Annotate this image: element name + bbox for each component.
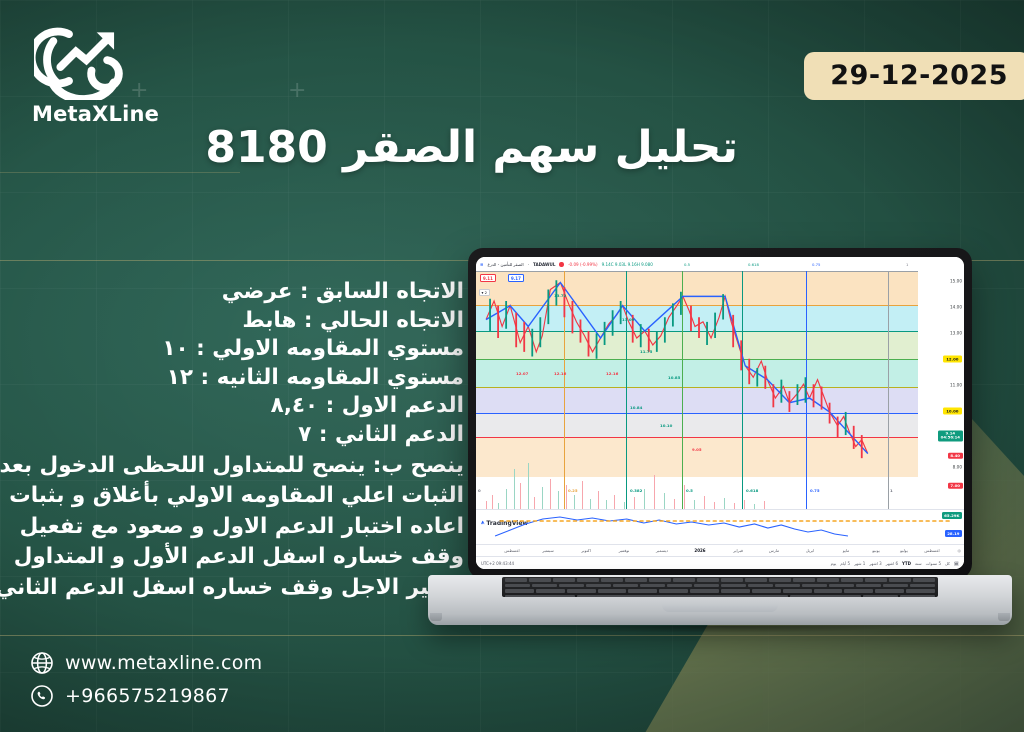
price-tick: 13.00 [950, 331, 962, 336]
plus-decor-icon: + [288, 80, 306, 102]
fib-top-label-075: 0.75 [812, 262, 820, 267]
fib-top-label-0618: 0.618 [748, 262, 759, 267]
phone-text: +966575219867 [65, 685, 230, 707]
oscillator-lower-badge: 28.19 [945, 530, 962, 537]
website-text: www.metaxline.com [65, 652, 262, 674]
poster-canvas: + + MetaXLine 29-12-2025 تحليل سهم الصقر… [0, 0, 1024, 732]
order-tag-sell[interactable]: 9.11 [480, 274, 496, 282]
analysis-line: الدعم الثاني : ٧ [44, 421, 464, 450]
zigzag-label: 12.16 [606, 371, 618, 376]
zigzag-label: 13.09 [622, 317, 634, 322]
zigzag-label: 13.72 [554, 293, 566, 298]
time-tick: مايو [843, 548, 850, 553]
zigzag-label: 10.85 [668, 375, 680, 380]
symbol-arabic-name: الصقر للتأمين - الدرع [487, 262, 523, 267]
analysis-text-block: الاتجاه السابق : عرضي الاتجاه الحالي : ه… [44, 278, 464, 603]
timezone-clock[interactable]: UTC+2 09:43:44 [481, 561, 514, 566]
time-tick: فبراير [733, 548, 743, 553]
laptop-screen: ≡ الصقر للتأمين - الدرع · TADAWUL -0.09 … [476, 257, 964, 569]
last-price-badge: 9.14 04:56:14 [938, 431, 962, 442]
zigzag-indicator [486, 283, 868, 454]
volume-histogram [476, 457, 918, 509]
oscillator-dotted-level [476, 510, 964, 544]
resistance-level-2-badge: 12.00 [943, 356, 961, 363]
chart-main-area: 13.72 13.09 11.75 12.16 10.85 10.84 10.1… [476, 271, 964, 509]
timeframe-5d[interactable]: 5 أيام [840, 561, 850, 566]
price-change: -0.09 (-0.99%) [568, 262, 598, 267]
resistance-level-1-badge: 10.00 [943, 408, 961, 415]
price-tick: 15.00 [950, 279, 962, 284]
time-tick: اكتوبر [581, 548, 591, 553]
zigzag-label: 11.75 [640, 349, 652, 354]
price-tick: 11.00 [950, 383, 962, 388]
price-axis[interactable]: 15.00 14.00 13.00 12.00 11.00 10.00 9.14… [918, 271, 964, 509]
price-tick: 14.00 [950, 305, 962, 310]
timeframe-ytd[interactable]: YTD [902, 561, 911, 566]
recommendation-line: الثبات اعلي المقاومه الاولي بأغلاق و بثب… [44, 482, 464, 511]
ohlc-values: 9.14C 9.03L 9.16H 9.080 [602, 262, 653, 267]
time-tick: ديسمبر [656, 548, 668, 553]
laptop-mockup: ≡ الصقر للتأمين - الدرع · TADAWUL -0.09 … [428, 248, 1012, 648]
time-tick: سبتمبر [542, 548, 554, 553]
chart-status-bar: UTC+2 09:43:44 🗓 كل 5 سنوات سنة YTD 6 اش… [476, 556, 964, 569]
time-tick: اغسطس [924, 548, 939, 553]
timeframe-1y[interactable]: سنة [915, 561, 922, 566]
chart-plot-area[interactable]: 13.72 13.09 11.75 12.16 10.85 10.84 10.1… [476, 271, 918, 509]
time-tick-current-year: 2026 [694, 548, 705, 553]
laptop-keyboard [502, 577, 938, 597]
footer-contact: www.metaxline.com +966575219867 [30, 642, 262, 708]
date-badge: 29-12-2025 [804, 52, 1024, 100]
timeframe-selector[interactable]: 🗓 كل 5 سنوات سنة YTD 6 اشهر 3 اشهر 1 شهر… [831, 561, 959, 566]
chart-header: ≡ الصقر للتأمين - الدرع · TADAWUL -0.09 … [476, 257, 964, 271]
candle-trace [486, 283, 868, 454]
tradingview-chart-app[interactable]: ≡ الصقر للتأمين - الدرع · TADAWUL -0.09 … [476, 257, 964, 569]
recommendation-line: وقف خساره اسفل الدعم الأول و المتداول [44, 543, 464, 572]
time-tick: ابريل [806, 548, 815, 553]
page-title: تحليل سهم الصقر 8180 [98, 122, 738, 173]
zigzag-label: 12.16 [554, 371, 566, 376]
support-2-badge: 7.00 [948, 483, 963, 489]
fib-top-label-1: 1 [906, 262, 908, 267]
analysis-line: مستوي المقاومه الاولي : ١٠ [44, 335, 464, 364]
laptop-foot-left [430, 613, 442, 621]
zigzag-label: 10.84 [630, 405, 642, 410]
timeframe-1m[interactable]: 1 شهر [854, 561, 865, 566]
time-tick: اغسطس [504, 548, 519, 553]
recommendation-line: قصير الاجل وقف خساره اسفل الدعم الثاني [44, 574, 464, 603]
separator: · [528, 262, 529, 267]
timeframe-3m[interactable]: 3 اشهر [869, 561, 881, 566]
metaxline-arrow-logo-icon [34, 22, 130, 100]
order-tag-buy[interactable]: 9.17 [508, 274, 524, 282]
recommendation-line: ينصح ب: ينصح للمتداول اللحظى الدخول بعد [44, 452, 464, 481]
chart-menu-icon[interactable]: ≡ [480, 262, 483, 267]
timeframe-1d[interactable]: يوم [831, 561, 837, 566]
time-tick: يوليو [900, 548, 908, 553]
time-tick: يونيو [872, 548, 880, 553]
analysis-line: الاتجاه الحالي : هابط [44, 307, 464, 336]
time-tick: نوفمبر [619, 548, 630, 553]
time-axis-settings-icon[interactable]: ◎ [958, 548, 962, 553]
position-size-tag[interactable]: ▾ 2 [479, 289, 490, 296]
website-row[interactable]: www.metaxline.com [30, 651, 262, 675]
zigzag-label: 10.10 [660, 423, 672, 428]
timeframe-6m[interactable]: 6 اشهر [886, 561, 898, 566]
exchange-name: TADAWUL [533, 262, 555, 267]
fib-top-label-05: 0.5 [684, 262, 690, 267]
oscillator-pane[interactable]: ⩚ TradingView 65.29K 28.19 [476, 509, 964, 544]
zigzag-label: 9.05 [692, 447, 702, 452]
recommendation-line: اعاده اختبار الدعم الاول و صعود مع تفعيل [44, 513, 464, 542]
globe-icon [30, 651, 54, 675]
price-tick: 8.00 [953, 465, 962, 470]
laptop-lid: ≡ الصقر للتأمين - الدرع · TADAWUL -0.09 … [468, 248, 972, 579]
oscillator-value-badge: 65.29K [942, 512, 962, 519]
timeframe-5y[interactable]: 5 سنوات [926, 561, 941, 566]
market-closed-dot-icon [559, 262, 564, 267]
analysis-line: مستوي المقاومه الثانيه : ١٢ [44, 364, 464, 393]
analysis-line: الدعم الاول : ٨,٤٠ [44, 392, 464, 421]
whatsapp-icon [30, 684, 54, 708]
zigzag-label: 12.07 [516, 371, 528, 376]
analysis-line: الاتجاه السابق : عرضي [44, 278, 464, 307]
keyboard-row [502, 594, 938, 597]
brand-logo: MetaXLine [28, 22, 168, 126]
time-axis[interactable]: اغسطس سبتمبر اكتوبر نوفمبر ديسمبر 2026 ف… [476, 544, 964, 556]
support-1-badge: 8.40 [948, 453, 963, 459]
laptop-foot-right [998, 613, 1010, 621]
time-tick: مارس [769, 548, 779, 553]
laptop-trackpad [662, 604, 778, 612]
phone-row[interactable]: +966575219867 [30, 684, 262, 708]
laptop-shadow [458, 626, 982, 642]
timeframe-all[interactable]: كل [945, 561, 950, 566]
calendar-icon[interactable]: 🗓 [954, 561, 959, 566]
